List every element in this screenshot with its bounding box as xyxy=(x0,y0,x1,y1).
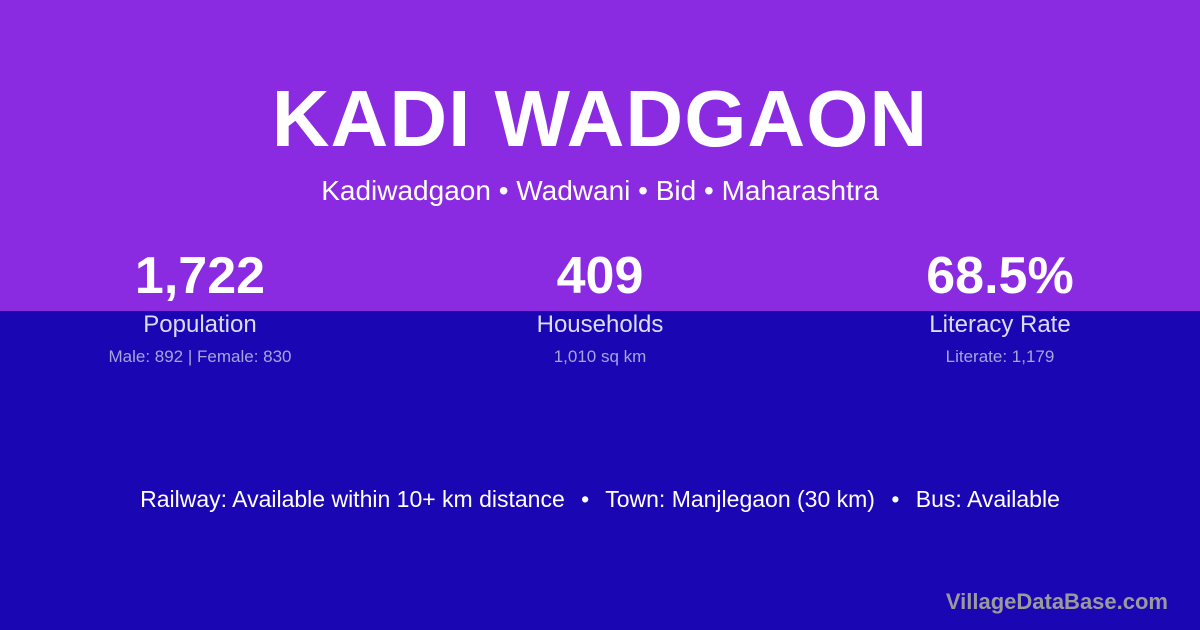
stat-sublabel: Literate: 1,179 xyxy=(800,346,1200,368)
stat-label: Population xyxy=(0,310,400,340)
stat-value: 1,722 xyxy=(0,246,400,306)
stat-value: 68.5% xyxy=(800,246,1200,306)
page-title: KADI WADGAON xyxy=(0,0,1200,162)
stat-households: 409 Households 1,010 sq km xyxy=(400,246,800,368)
railway-info: Railway: Available within 10+ km distanc… xyxy=(140,486,565,512)
stat-value: 409 xyxy=(400,246,800,306)
stat-population: 1,722 Population Male: 892 | Female: 830 xyxy=(0,246,400,368)
breadcrumb: Kadiwadgaon • Wadwani • Bid • Maharashtr… xyxy=(0,162,1200,208)
stat-literacy-rate: 68.5% Literacy Rate Literate: 1,179 xyxy=(800,246,1200,368)
bullet-separator-icon: • xyxy=(881,484,909,514)
stats-row: 1,722 Population Male: 892 | Female: 830… xyxy=(0,246,1200,368)
stat-label: Literacy Rate xyxy=(800,310,1200,340)
bus-info: Bus: Available xyxy=(916,486,1060,512)
amenities-line: Railway: Available within 10+ km distanc… xyxy=(0,484,1200,514)
stat-label: Households xyxy=(400,310,800,340)
bullet-separator-icon: • xyxy=(571,484,599,514)
site-brand: VillageDataBase.com xyxy=(946,588,1168,616)
town-info: Town: Manjlegaon (30 km) xyxy=(605,486,875,512)
stat-sublabel: Male: 892 | Female: 830 xyxy=(0,346,400,368)
stat-sublabel: 1,010 sq km xyxy=(400,346,800,368)
card-header: KADI WADGAON Kadiwadgaon • Wadwani • Bid… xyxy=(0,0,1200,208)
village-info-card: KADI WADGAON Kadiwadgaon • Wadwani • Bid… xyxy=(0,0,1200,630)
